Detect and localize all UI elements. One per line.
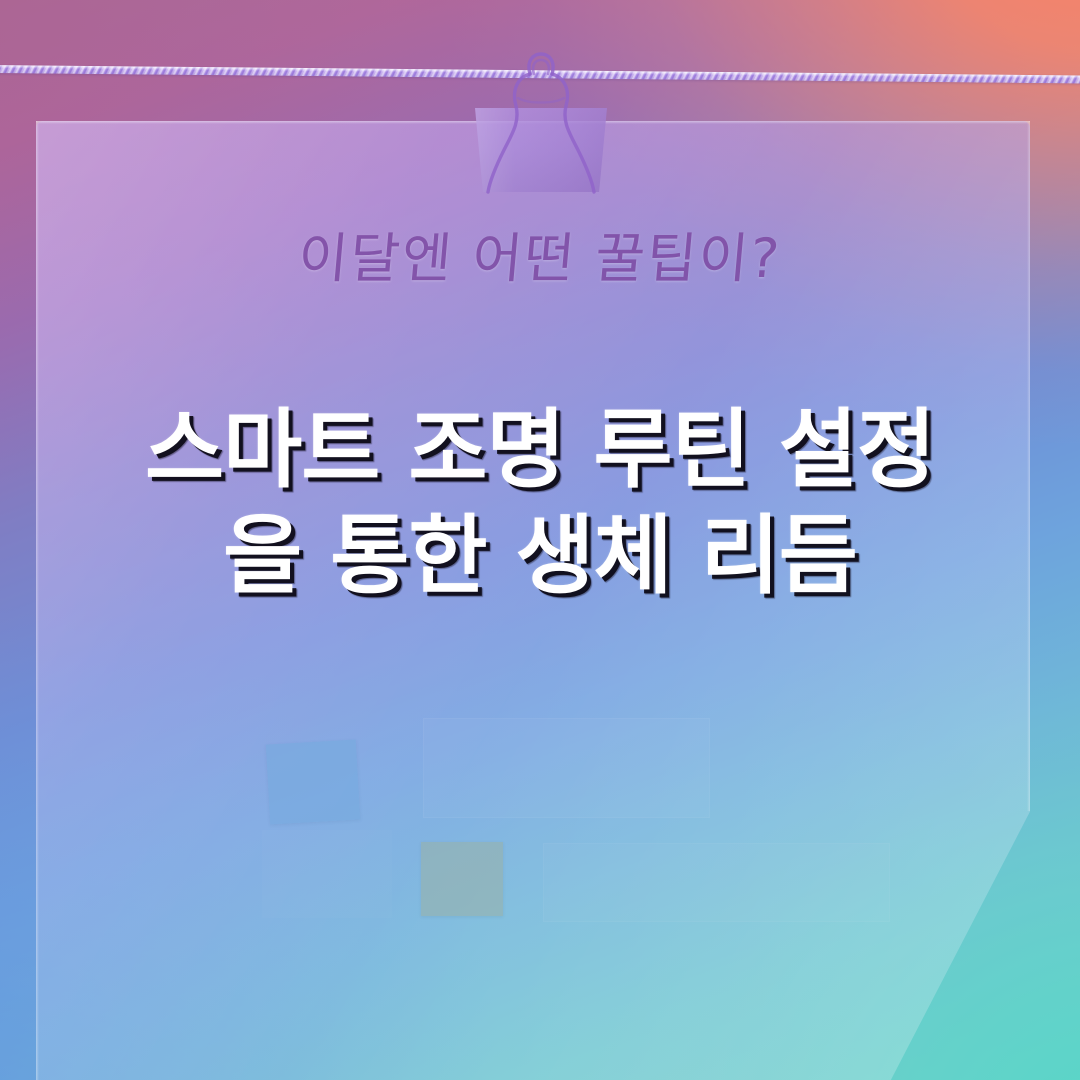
faint-rectangle-left	[262, 830, 392, 918]
binder-clip-icon	[468, 48, 614, 200]
subtitle-text: 이달엔 어떤 꿀팁이?	[0, 214, 1080, 293]
binder-clip-wire	[468, 48, 614, 200]
blue-sticky-note	[266, 740, 360, 825]
page-title: 스마트 조명 루틴 설정을 통한 생체 리듬	[120, 398, 960, 610]
poster-canvas: 이달엔 어떤 꿀팁이? 스마트 조명 루틴 설정을 통한 생체 리듬	[0, 0, 1080, 1080]
faint-rectangle-upper	[423, 718, 710, 818]
sage-sticky-note	[421, 842, 503, 916]
faint-rectangle-lower	[543, 843, 890, 922]
